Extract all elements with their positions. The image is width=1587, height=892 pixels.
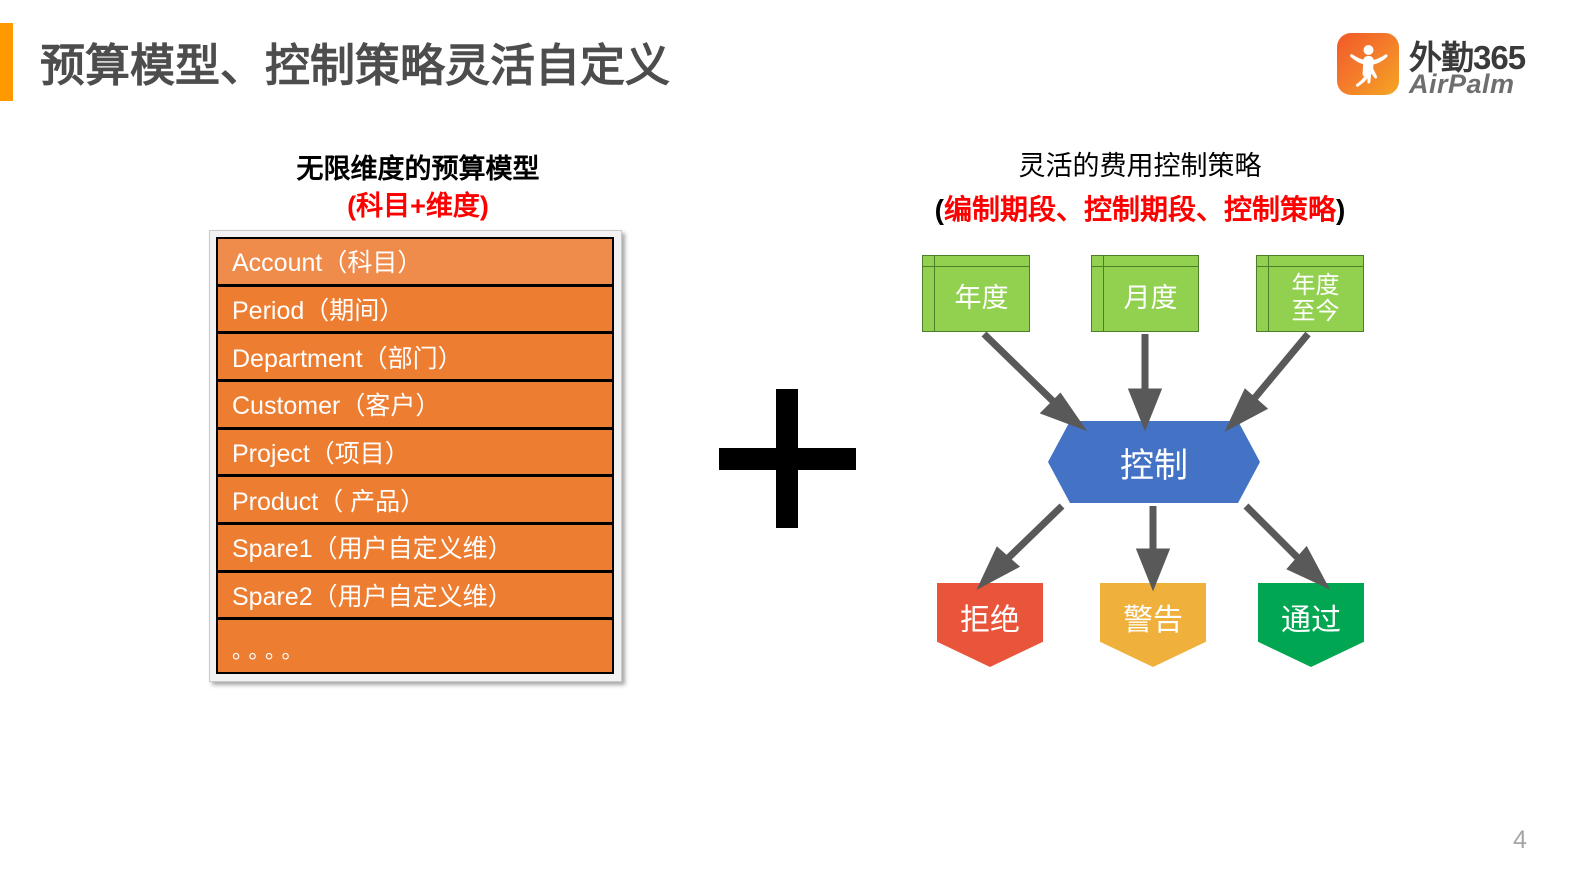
table-row-ellipsis: 。。。。 xyxy=(216,618,614,674)
outcome-warn: 警告 xyxy=(1100,583,1206,667)
budget-dimension-table: Account（科目） Period（期间） Department（部门） Cu… xyxy=(209,230,622,682)
table-row: Spare2（用户自定义维） xyxy=(216,571,614,619)
plus-symbol xyxy=(719,389,856,528)
logo-wordmark-en: AirPalm xyxy=(1409,69,1515,100)
control-node: 控制 xyxy=(1048,421,1260,503)
period-box-label: 月度 xyxy=(1113,274,1178,313)
left-panel-heading: 无限维度的预算模型 xyxy=(212,147,624,186)
outcome-label: 拒绝 xyxy=(960,595,1020,639)
period-box-left-gutter xyxy=(934,256,935,331)
period-box-top-gutter xyxy=(1092,266,1198,267)
table-row: Department（部门） xyxy=(216,332,614,380)
arrow-annual-to-control xyxy=(984,334,1078,424)
brand-logo: 外勤365 AirPalm xyxy=(1337,31,1577,103)
arrow-control-to-reject xyxy=(984,506,1062,582)
arrow-ytd-to-control xyxy=(1232,334,1308,424)
arrow-monthly-to-control xyxy=(1133,334,1157,422)
arrow-control-to-warn xyxy=(1141,506,1165,582)
control-node-label: 控制 xyxy=(1120,438,1188,487)
outcome-pass: 通过 xyxy=(1258,583,1364,667)
period-box-left-gutter xyxy=(1268,256,1269,331)
outcome-label: 通过 xyxy=(1281,595,1341,639)
page-number: 4 xyxy=(1500,826,1540,855)
table-row: Period（期间） xyxy=(216,285,614,333)
period-box-monthly: 月度 xyxy=(1091,255,1199,332)
arrow-control-to-pass xyxy=(1246,506,1322,582)
page-title: 预算模型、控制策略灵活自定义 xyxy=(40,29,670,94)
period-box-label: 年度至今 xyxy=(1281,263,1340,325)
airpalm-running-figure-icon xyxy=(1337,33,1399,95)
title-accent-bar xyxy=(0,23,13,101)
table-row: Product（ 产品） xyxy=(216,475,614,523)
period-box-label-line1: 年度 xyxy=(1292,272,1340,299)
subheading-red-text: 编制期段、控制期段、控制策略 xyxy=(944,194,1336,225)
outcome-label: 警告 xyxy=(1123,595,1183,639)
subheading-close-paren: ) xyxy=(1336,194,1345,225)
right-panel-heading: 灵活的费用控制策略 xyxy=(880,144,1400,183)
right-panel-subheading: (编制期段、控制期段、控制策略) xyxy=(860,188,1420,228)
outcome-reject: 拒绝 xyxy=(937,583,1043,667)
table-row: Account（科目） xyxy=(216,237,614,285)
subheading-open-paren: ( xyxy=(935,194,944,225)
period-box-annual: 年度 xyxy=(922,255,1030,332)
period-box-left-gutter xyxy=(1103,256,1104,331)
left-panel-subheading: (科目+维度) xyxy=(212,184,624,223)
table-row: Spare1（用户自定义维） xyxy=(216,523,614,571)
period-box-top-gutter xyxy=(923,266,1029,267)
period-box-label-line2: 至今 xyxy=(1292,298,1340,325)
period-box-year-to-date: 年度至今 xyxy=(1256,255,1364,332)
period-box-label: 年度 xyxy=(944,274,1009,313)
plus-horizontal-bar xyxy=(719,448,856,470)
table-row: Customer（客户） xyxy=(216,380,614,428)
table-row: Project（项目） xyxy=(216,428,614,476)
